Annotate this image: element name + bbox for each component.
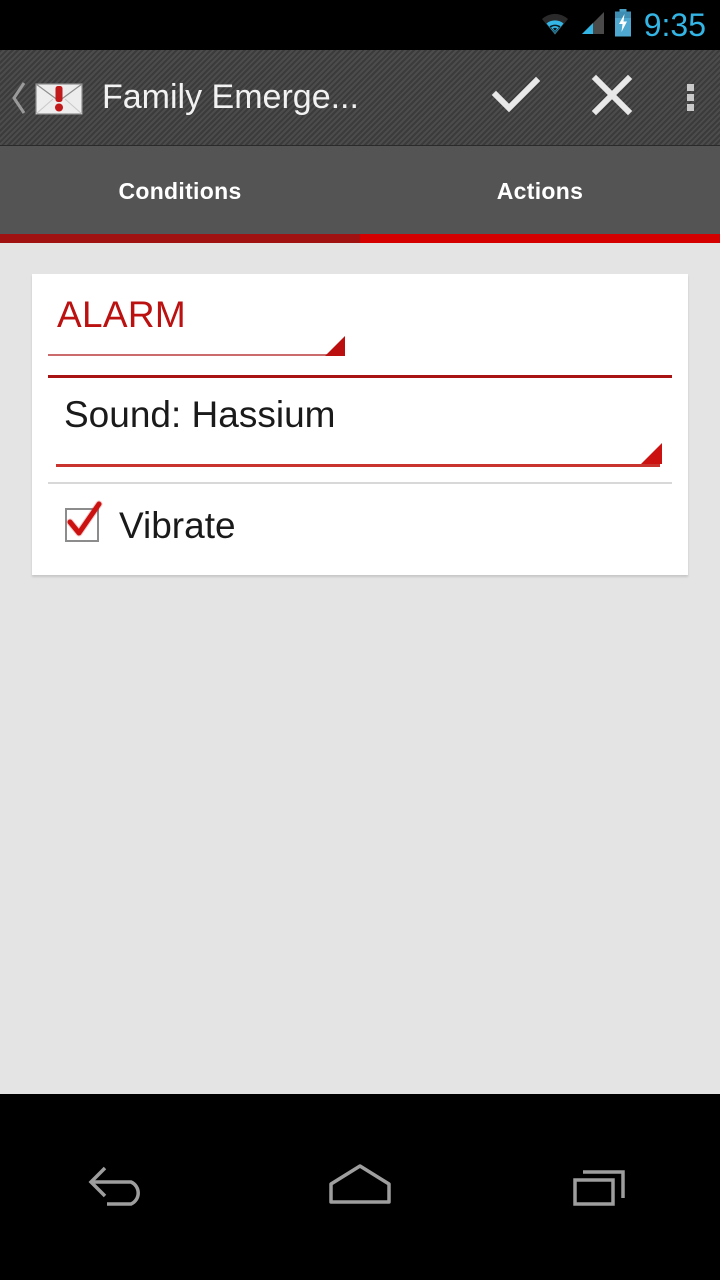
sound-spinner-underline xyxy=(56,464,660,467)
tab-bar: Conditions Actions xyxy=(0,146,720,243)
screen: 9:35 Family Emerge... xyxy=(0,0,720,1280)
tab-conditions-underline xyxy=(0,234,360,243)
nav-back-button[interactable] xyxy=(0,1094,240,1280)
action-type-spinner-underline xyxy=(48,354,342,356)
sound-spinner-value: Sound: Hassium xyxy=(64,394,335,436)
tab-actions[interactable]: Actions xyxy=(360,146,720,243)
chevron-down-icon xyxy=(641,443,662,464)
vibrate-row[interactable]: Vibrate xyxy=(32,486,688,566)
battery-charging-icon xyxy=(614,9,632,42)
envelope-alert-icon[interactable] xyxy=(33,78,85,118)
nav-recents-button[interactable] xyxy=(480,1094,720,1280)
status-clock: 9:35 xyxy=(644,9,706,41)
close-icon xyxy=(591,74,633,121)
check-icon xyxy=(492,75,540,120)
nav-home-icon xyxy=(325,1160,395,1215)
vibrate-label: Vibrate xyxy=(119,506,236,546)
nav-back-icon xyxy=(87,1160,153,1215)
action-type-spinner[interactable]: ALARM xyxy=(32,274,688,376)
navigation-bar xyxy=(0,1094,720,1280)
tab-conditions-label: Conditions xyxy=(118,178,241,205)
chevron-down-icon xyxy=(325,336,345,356)
action-type-spinner-value: ALARM xyxy=(57,295,186,335)
overflow-menu-icon xyxy=(687,81,694,114)
tab-conditions[interactable]: Conditions xyxy=(0,146,360,243)
wifi-icon xyxy=(540,10,570,41)
sound-spinner[interactable]: Sound: Hassium xyxy=(32,378,688,483)
cancel-button[interactable] xyxy=(564,50,660,146)
checkmark-icon xyxy=(62,498,106,549)
card-divider-secondary xyxy=(48,482,672,484)
nav-home-button[interactable] xyxy=(240,1094,480,1280)
back-chevron-icon[interactable] xyxy=(6,81,32,115)
tab-actions-underline xyxy=(360,234,720,243)
tab-actions-label: Actions xyxy=(497,178,583,205)
nav-recents-icon xyxy=(569,1160,631,1215)
accept-button[interactable] xyxy=(468,50,564,146)
action-bar-title: Family Emerge... xyxy=(102,78,359,117)
status-bar: 9:35 xyxy=(0,0,720,50)
action-bar-actions xyxy=(468,50,720,146)
action-card: ALARM Sound: Hassium xyxy=(32,274,688,575)
vibrate-checkbox[interactable] xyxy=(65,508,101,544)
overflow-menu-button[interactable] xyxy=(660,50,720,146)
content-area: ALARM Sound: Hassium xyxy=(0,243,720,1094)
action-bar: Family Emerge... xyxy=(0,50,720,146)
cellular-signal-icon xyxy=(579,10,605,41)
